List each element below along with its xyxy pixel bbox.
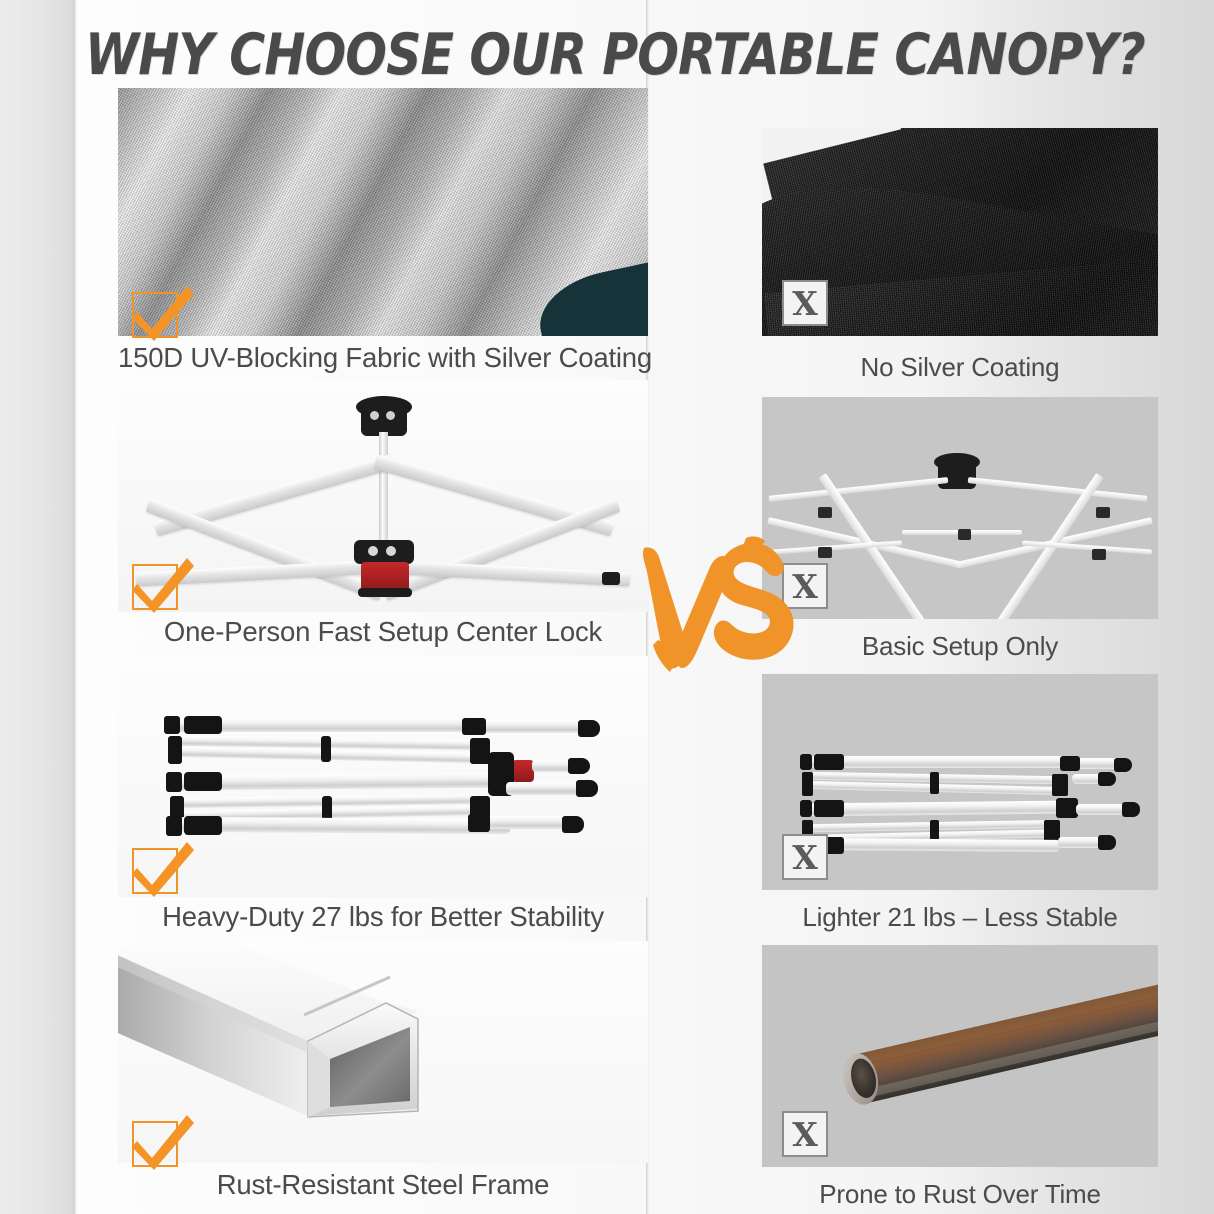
sheet-seam-left	[74, 0, 77, 1214]
pro-caption-2: One-Person Fast Setup Center Lock	[118, 616, 648, 648]
canopy-frame-center-lock-photo	[118, 380, 648, 612]
pro-caption-4: Rust-Resistant Steel Frame	[118, 1169, 648, 1201]
con-caption-2: Basic Setup Only	[762, 631, 1158, 662]
pro-card-4: Rust-Resistant Steel Frame	[118, 941, 648, 1201]
check-glyph	[130, 554, 196, 614]
steel-tube-drawing	[118, 941, 648, 1163]
check-glyph	[130, 838, 196, 898]
pro-caption-1: 150D UV-Blocking Fabric with Silver Coat…	[118, 342, 648, 374]
folded-heavy-duty-frame-photo	[118, 656, 648, 897]
infographic-canvas: WHY CHOOSE OUR PORTABLE CANOPY? 150D UV-…	[0, 0, 1214, 1214]
vs-badge	[640, 532, 800, 682]
pros-column: 150D UV-Blocking Fabric with Silver Coat…	[118, 88, 648, 1201]
pro-card-1: 150D UV-Blocking Fabric with Silver Coat…	[118, 88, 648, 374]
con-caption-3: Lighter 21 lbs – Less Stable	[762, 902, 1158, 933]
square-steel-tube-photo	[118, 941, 648, 1163]
silver-coated-fabric-photo	[118, 88, 648, 336]
check-mark-icon	[132, 848, 182, 898]
con-caption-4: Prone to Rust Over Time	[762, 1179, 1158, 1210]
check-glyph	[130, 282, 196, 342]
pro-caption-3: Heavy-Duty 27 lbs for Better Stability	[118, 901, 648, 933]
pro-card-2: One-Person Fast Setup Center Lock	[118, 380, 648, 648]
vs-brush-icon	[640, 532, 800, 682]
page-title: WHY CHOOSE OUR PORTABLE CANOPY?	[85, 22, 1129, 88]
left-gutter-background	[0, 0, 74, 1214]
con-card-4: X Prone to Rust Over Time	[762, 945, 1158, 1210]
cross-icon: X	[782, 280, 828, 326]
check-mark-icon	[132, 292, 182, 342]
pro-card-3: Heavy-Duty 27 lbs for Better Stability	[118, 656, 648, 933]
check-glyph	[130, 1111, 196, 1171]
cross-icon: X	[782, 834, 828, 880]
con-card-3: X Lighter 21 lbs – Less Stable	[762, 674, 1158, 933]
check-mark-icon	[132, 1121, 182, 1171]
con-card-2: X Basic Setup Only	[762, 397, 1158, 662]
con-card-1: X No Silver Coating	[762, 128, 1158, 383]
check-mark-icon	[132, 564, 182, 614]
con-caption-1: No Silver Coating	[762, 352, 1158, 383]
cons-column: X No Silver Coating	[762, 128, 1158, 1210]
cross-icon: X	[782, 1111, 828, 1157]
